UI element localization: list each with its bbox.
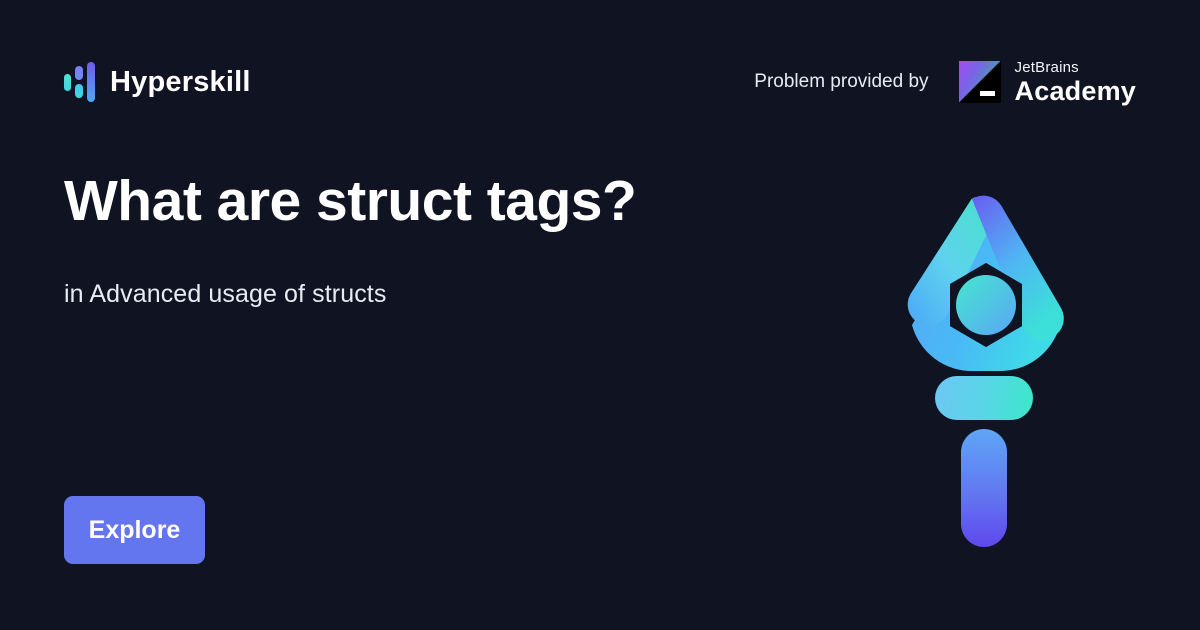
logo-bar-middle-bottom [75, 84, 83, 98]
hyperskill-brand[interactable]: Hyperskill [64, 52, 251, 112]
main-content: What are struct tags? in Advanced usage … [64, 170, 864, 309]
academy-label: Academy [1015, 78, 1136, 105]
page-title: What are struct tags? [64, 170, 864, 233]
jetbrains-square-icon [959, 61, 1001, 103]
jetbrains-dash-mark [980, 91, 995, 96]
logo-bar-middle-top [75, 66, 83, 80]
vertical-stem [961, 429, 1007, 547]
triangle-arrow-with-hex-cutout [900, 175, 1072, 375]
jetbrains-academy-logo[interactable]: JetBrains Academy [959, 60, 1136, 105]
provided-by-label: Problem provided by [754, 71, 928, 93]
promo-card: Hyperskill Problem provided by JetBrains… [0, 0, 1200, 630]
jetbrains-wordmark: JetBrains Academy [1015, 60, 1136, 105]
horizontal-pill [935, 376, 1033, 420]
explore-button[interactable]: Explore [64, 496, 205, 564]
jetbrains-gradient-triangle [959, 61, 1001, 103]
brand-name: Hyperskill [110, 68, 251, 97]
jetbrains-label: JetBrains [1015, 60, 1136, 75]
logo-bar-right [87, 62, 95, 102]
provider-block: Problem provided by JetBrains Academy [754, 52, 1136, 112]
page-subtitle: in Advanced usage of structs [64, 233, 864, 309]
header: Hyperskill Problem provided by JetBrains… [64, 52, 1136, 112]
hyperskill-bars-icon [64, 61, 96, 103]
hyperskill-torch-illustration [900, 175, 1072, 555]
logo-bar-left [64, 74, 71, 91]
